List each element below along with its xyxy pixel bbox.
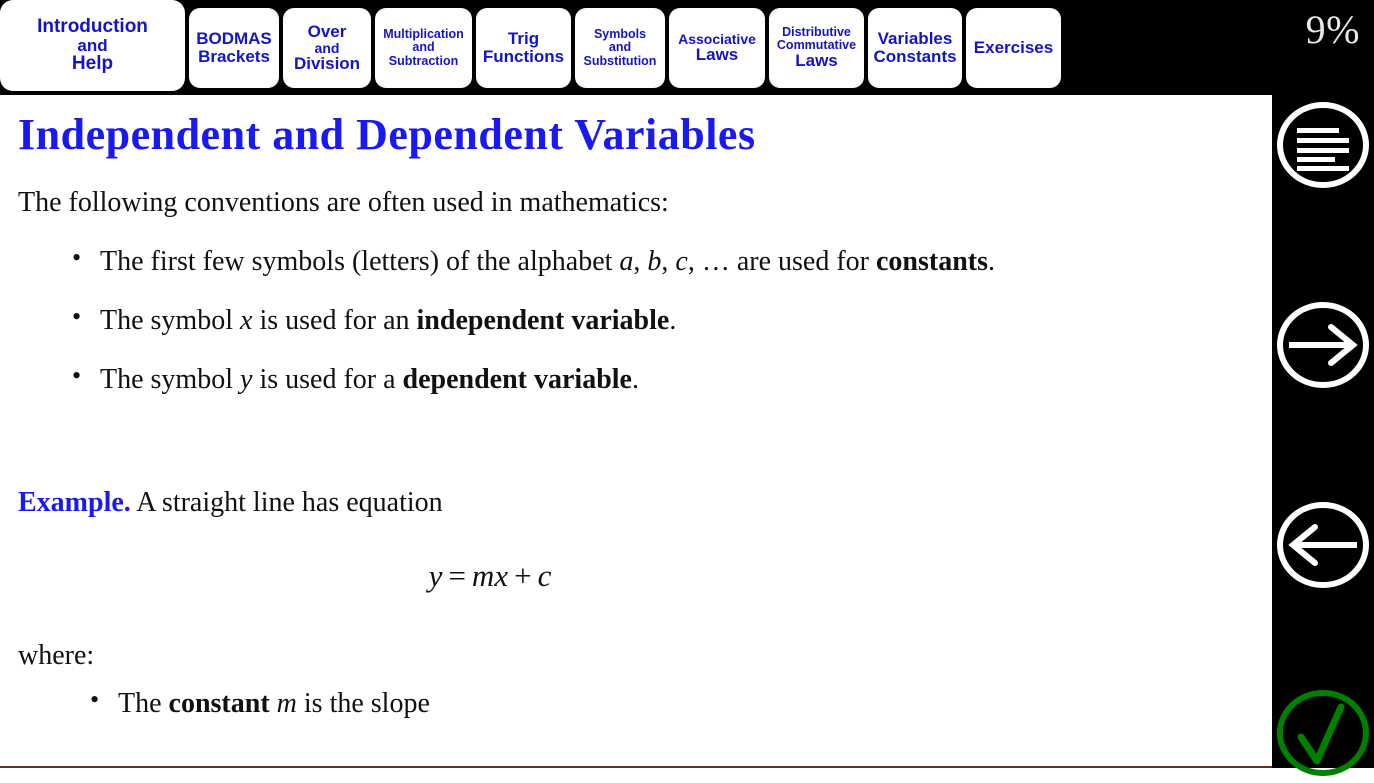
conventions-list: The first few symbols (letters) of the a…: [52, 243, 1002, 399]
intro-paragraph: The following conventions are often used…: [18, 185, 669, 220]
text-run: The symbol: [100, 305, 240, 336]
contents-icon: [1275, 97, 1371, 193]
nav-tab-label: Laws: [795, 52, 838, 70]
math-symbol: y: [240, 364, 252, 395]
nav-tab-bodmas-brackets[interactable]: BODMASBrackets: [189, 8, 279, 88]
sidebar-item-previous[interactable]: [1272, 495, 1374, 595]
nav-tab-variables-constants[interactable]: VariablesConstants: [868, 8, 962, 88]
emphasis-term: dependent variable: [403, 364, 632, 395]
where-list: The constant m is the slope: [70, 685, 1020, 722]
nav-tab-label: BODMAS: [196, 30, 272, 48]
text-run: The: [118, 688, 169, 719]
sidebar-item-check[interactable]: [1272, 683, 1374, 783]
text-run: ,: [661, 246, 675, 277]
equation-equals: =: [442, 558, 471, 593]
equation-display: y=mx+c: [0, 558, 980, 594]
list-item: The first few symbols (letters) of the a…: [52, 243, 1002, 280]
emphasis-term: constant: [169, 688, 270, 719]
text-run: .: [632, 364, 639, 395]
example-paragraph: Example. A straight line has equation: [18, 487, 443, 519]
nav-tab-distributive-commutative-laws[interactable]: DistributiveCommutativeLaws: [769, 8, 864, 88]
nav-tab-label: Associative: [678, 32, 756, 47]
page-title: Independent and Dependent Variables: [18, 109, 756, 160]
math-symbol: x: [240, 305, 252, 336]
text-run: .: [669, 305, 676, 336]
nav-tab-label: Division: [294, 55, 360, 73]
nav-tab-label: Exercises: [974, 39, 1053, 57]
arrow-right-icon: [1275, 297, 1371, 393]
nav-tab-label: Variables: [878, 30, 953, 48]
nav-tab-label: and: [412, 41, 434, 54]
nav-tab-label: Subtraction: [389, 55, 458, 68]
right-toolbar: [1272, 95, 1374, 768]
equation-m: m: [472, 558, 494, 593]
nav-tab-label: Help: [72, 54, 113, 74]
text-run: is the slope: [297, 688, 430, 719]
nav-tab-label: Trig: [508, 30, 539, 48]
nav-tab-multiplication-subtraction[interactable]: MultiplicationandSubtraction: [375, 8, 472, 88]
nav-tab-label: and: [315, 41, 340, 56]
nav-tab-label: Over: [308, 23, 347, 41]
sidebar-item-contents[interactable]: [1272, 95, 1374, 195]
nav-tab-label: Substitution: [584, 55, 657, 68]
nav-tab-label: Constants: [873, 48, 956, 66]
nav-tab-label: Brackets: [198, 48, 270, 66]
nav-tab-list: IntroductionandHelpBODMASBracketsOverand…: [0, 0, 1065, 95]
nav-tab-trig-functions[interactable]: TrigFunctions: [476, 8, 571, 88]
text-run: is used for an: [252, 305, 416, 336]
progress-percent: 9%: [1306, 6, 1360, 53]
slide-content: Independent and Dependent Variables The …: [0, 95, 1272, 768]
math-symbol: a: [619, 246, 633, 277]
equation-x: x: [494, 558, 508, 593]
nav-tab-exercises[interactable]: Exercises: [966, 8, 1061, 88]
check-circle-icon: [1275, 685, 1371, 781]
text-run: The symbol: [100, 364, 240, 395]
nav-tab-label: Laws: [696, 46, 739, 64]
math-symbol: m: [277, 688, 297, 719]
math-symbol: c: [675, 246, 687, 277]
nav-tab-associative-laws[interactable]: AssociativeLaws: [669, 8, 765, 88]
list-item: The symbol x is used for an independent …: [52, 302, 1002, 339]
emphasis-term: constants: [876, 246, 988, 277]
text-run: [270, 688, 277, 719]
nav-tab-introduction-help[interactable]: IntroductionandHelp: [0, 0, 185, 91]
text-run: ,: [633, 246, 647, 277]
nav-tab-label: and: [77, 37, 107, 55]
equation-lhs: y: [429, 558, 443, 593]
arrow-left-icon: [1275, 497, 1371, 593]
top-navigation-bar: IntroductionandHelpBODMASBracketsOverand…: [0, 0, 1374, 95]
nav-tab-over-division[interactable]: OverandDivision: [283, 8, 371, 88]
list-item: The constant m is the slope: [70, 685, 1020, 722]
text-run: , … are used for: [688, 246, 876, 277]
equation-plus: +: [508, 558, 537, 593]
math-symbol: b: [647, 246, 661, 277]
nav-tab-symbols-substitution[interactable]: SymbolsandSubstitution: [575, 8, 665, 88]
equation-c: c: [538, 558, 552, 593]
example-label: Example.: [18, 487, 131, 518]
emphasis-term: independent variable: [417, 305, 670, 336]
text-run: The first few symbols (letters) of the a…: [100, 246, 619, 277]
list-item: The symbol y is used for a dependent var…: [52, 361, 1002, 398]
sidebar-item-next[interactable]: [1272, 295, 1374, 395]
where-label: where:: [18, 638, 94, 673]
text-run: .: [988, 246, 995, 277]
nav-tab-label: Functions: [483, 48, 564, 66]
nav-tab-label: Introduction: [37, 17, 148, 37]
nav-tab-label: and: [609, 41, 631, 54]
example-text: A straight line has equation: [136, 487, 442, 518]
text-run: is used for a: [252, 364, 402, 395]
